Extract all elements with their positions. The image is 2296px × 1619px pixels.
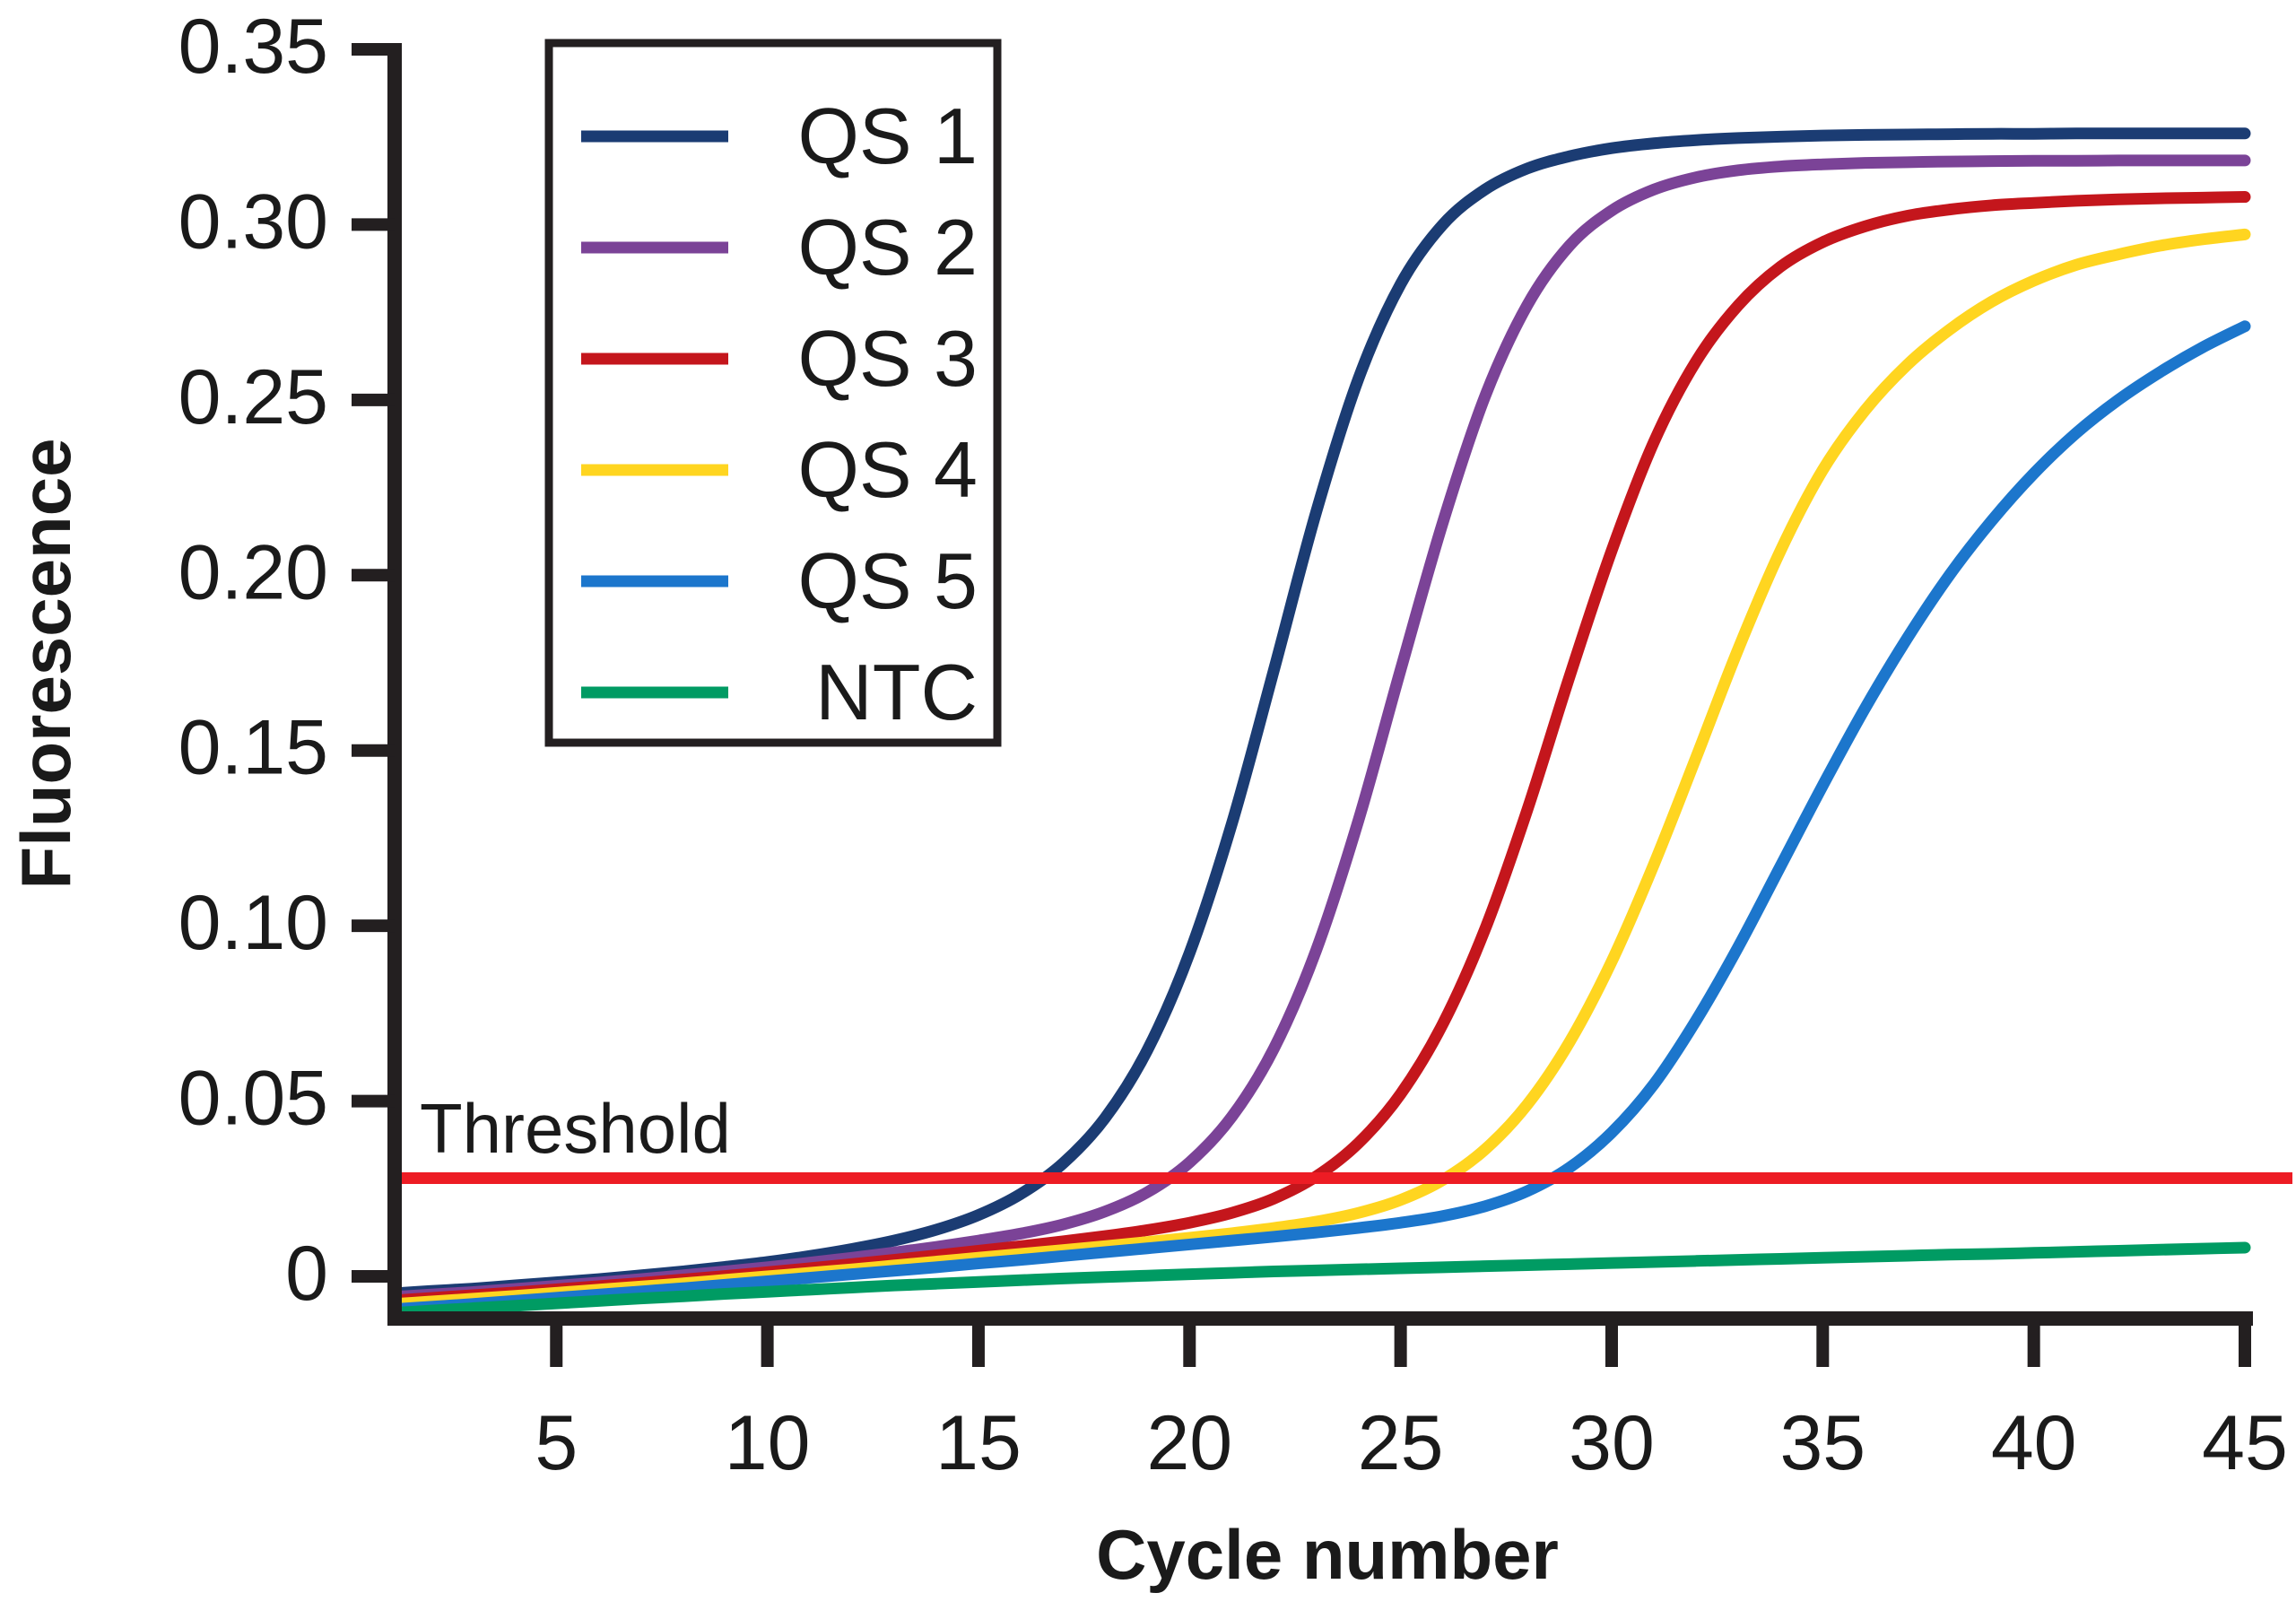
legend-label: QS 2 [797,203,978,292]
y-tick-label: 0.30 [178,178,328,265]
x-tick-label: 20 [1146,1400,1232,1486]
y-axis-title: Fluorescence [6,439,85,890]
legend-label: QS 4 [797,425,978,514]
x-tick-label: 40 [1991,1400,2077,1486]
x-tick-label: 45 [2202,1400,2288,1486]
y-tick-label: 0 [285,1231,328,1317]
threshold-label: Threshold [420,1089,731,1168]
x-axis-title: Cycle number [1096,1515,1559,1594]
y-tick-label: 0.20 [178,529,328,615]
y-tick-label: 0.15 [178,705,328,791]
x-tick-label: 30 [1569,1400,1655,1486]
x-tick-label: 15 [935,1400,1022,1486]
x-tick-label: 5 [535,1400,578,1486]
x-tick-label: 10 [725,1400,811,1486]
x-tick-label: 25 [1358,1400,1444,1486]
amplification-plot-figure: 00.050.100.150.200.250.300.35 5101520253… [0,0,2296,1619]
chart-legend: QS 1QS 2QS 3QS 4QS 5NTC [549,43,997,743]
y-tick-label: 0.05 [178,1056,328,1142]
legend-label: NTC [815,648,978,736]
qpcr-amplification-chart: 00.050.100.150.200.250.300.35 5101520253… [0,0,2296,1619]
legend-label: QS 1 [797,91,978,180]
chart-background [0,0,2296,1619]
y-tick-label: 0.10 [178,880,328,966]
legend-label: QS 3 [797,314,978,403]
y-tick-label: 0.35 [178,4,328,90]
legend-label: QS 5 [797,536,978,625]
x-tick-label: 35 [1779,1400,1865,1486]
y-tick-label: 0.25 [178,354,328,440]
